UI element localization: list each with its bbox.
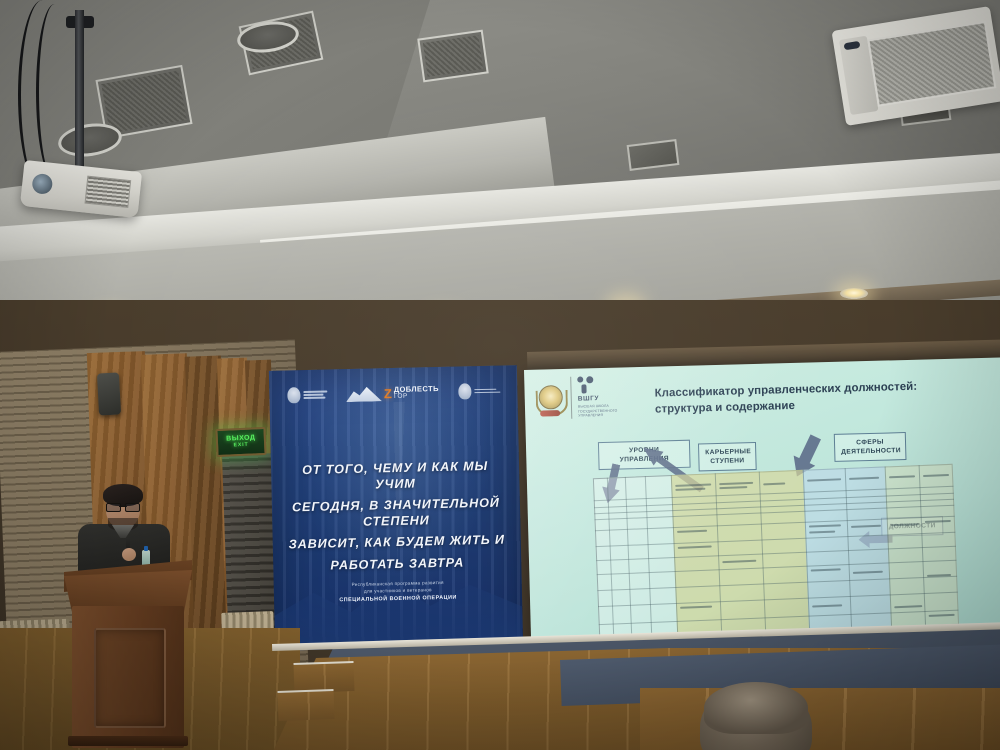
podium-front-panel [94,628,166,728]
classifier-table [593,464,960,650]
callout-levels: УРОВНИ УПРАВЛЕНИЯ [598,440,691,471]
vshgu-mark-icon [577,376,593,393]
callout-career: КАРЬЕРНЫЕ СТУПЕНИ [698,442,757,472]
podium-base [68,736,188,746]
banner-logo-center: Z ДОБЛЕСТЬ ГОР [346,384,439,402]
projector-lens-icon [31,173,53,195]
exit-sign: ВЫХОД EXIT [215,427,266,457]
glasses-icon [106,503,140,510]
projector-pole [75,10,84,175]
banner-center-line2: ГОР [394,392,439,400]
crest-ribbon [540,410,560,417]
vshgu-label: ВШГУ [578,395,600,403]
logo-text-lines [474,388,500,393]
banner-headline-line-1: ОТ ТОГО, ЧЕМУ И КАК МЫ УЧИМ [285,458,506,495]
ceiling-vent-right [417,30,488,83]
vshgu-sublabel: ВЫСШАЯ ШКОЛА ГОСУДАРСТВЕННОГО УПРАВЛЕНИЯ [578,404,618,419]
exit-sign-label-en: EXIT [233,442,248,449]
coat-of-arms-icon [534,380,565,417]
projection-screen: ВШГУ ВЫСШАЯ ШКОЛА ГОСУДАРСТВЕННОГО УПРАВ… [524,357,1000,662]
banner-headline-line-2: СЕГОДНЯ, В ЗНАЧИТЕЛЬНОЙ СТЕПЕНИ [286,495,507,532]
audience-member-hair [704,682,808,734]
front-wood-paneling [640,688,1000,750]
conference-hall-photo: ВЫХОД EXIT Z ДОБЛЕСТЬ ГОР [0,0,1000,750]
mountain-icon [346,385,382,402]
vshgu-logo: ВШГУ ВЫСШАЯ ШКОЛА ГОСУДАРСТВЕННОГО УПРАВ… [570,376,617,419]
slide-logo-group: ВШГУ ВЫСШАЯ ШКОЛА ГОСУДАРСТВЕННОГО УПРАВ… [534,376,617,420]
presenter-hand [122,548,136,561]
banner-headline-line-3: ЗАВИСИТ, КАК БУДЕМ ЖИТЬ И [287,532,507,553]
stage-step-1 [293,661,354,693]
crest-icon [287,387,300,403]
projector-vent-grille [85,176,132,208]
vent-grille [423,35,483,76]
crest-icon [458,383,471,399]
wall-speaker [97,372,121,415]
logo-text-lines [303,391,327,399]
vent-grille [101,71,186,134]
banner-headline-line-4: РАБОТАТЬ ЗАВТРА [287,553,507,574]
banner-center-text: ДОБЛЕСТЬ ГОР [394,385,439,400]
banner-logo-right [458,383,500,400]
projector-cable-2 [36,4,73,180]
downlight-4 [840,288,868,299]
slide-title: Классификатор управленческих должностей:… [654,379,955,418]
banner-logo-left [287,387,327,404]
banner-headline: ОТ ТОГО, ЧЕМУ И КАК МЫ УЧИМ СЕГОДНЯ, В З… [271,457,522,579]
z-mark-icon: Z [384,387,392,400]
stage-step-2 [277,689,334,721]
banner-logo-row: Z ДОБЛЕСТЬ ГОР [269,373,518,413]
callout-spheres: СФЕРЫ ДЕЯТЕЛЬНОСТИ [834,432,907,462]
event-banner: Z ДОБЛЕСТЬ ГОР ОТ ТОГО, ЧЕМУ И КАК МЫ УЧ… [269,365,523,651]
